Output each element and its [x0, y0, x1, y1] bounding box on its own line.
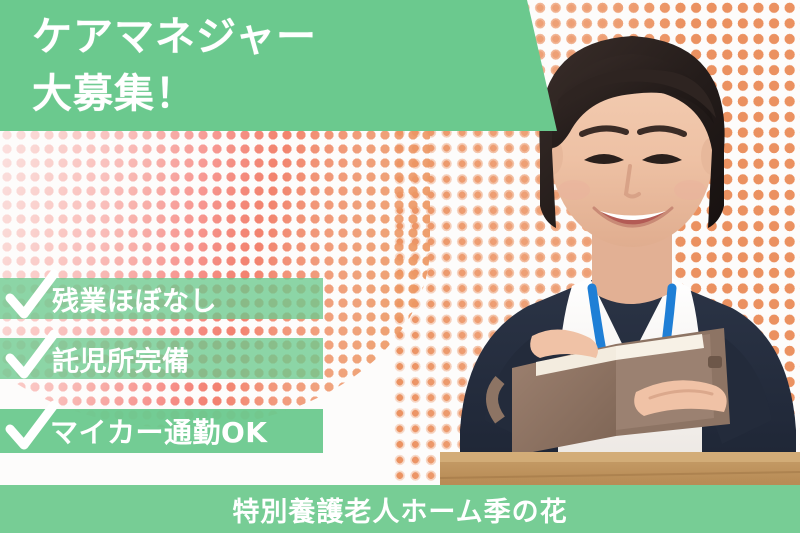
recruitment-poster: ケアマネジャー 大募集！ 残業ほぼなし 託児所完備 マイカー通勤OK 特別養護老… — [0, 0, 800, 533]
feature-item-3: マイカー通勤OK — [0, 409, 323, 453]
feature-label-1: 残業ほぼなし — [52, 279, 217, 318]
facility-name-text: 特別養護老人ホーム季の花 — [232, 490, 567, 529]
headline-line-1: ケアマネジャー — [32, 16, 317, 58]
headline-line-2: 大募集！ — [32, 73, 196, 115]
headline-text-group: ケアマネジャー 大募集！ — [0, 0, 560, 131]
feature-label-2: 託児所完備 — [52, 339, 190, 378]
facility-name-band: 特別養護老人ホーム季の花 — [0, 485, 800, 533]
feature-item-2: 託児所完備 — [0, 338, 323, 379]
feature-item-1: 残業ほぼなし — [0, 278, 323, 319]
feature-label-3: マイカー通勤OK — [50, 411, 268, 451]
